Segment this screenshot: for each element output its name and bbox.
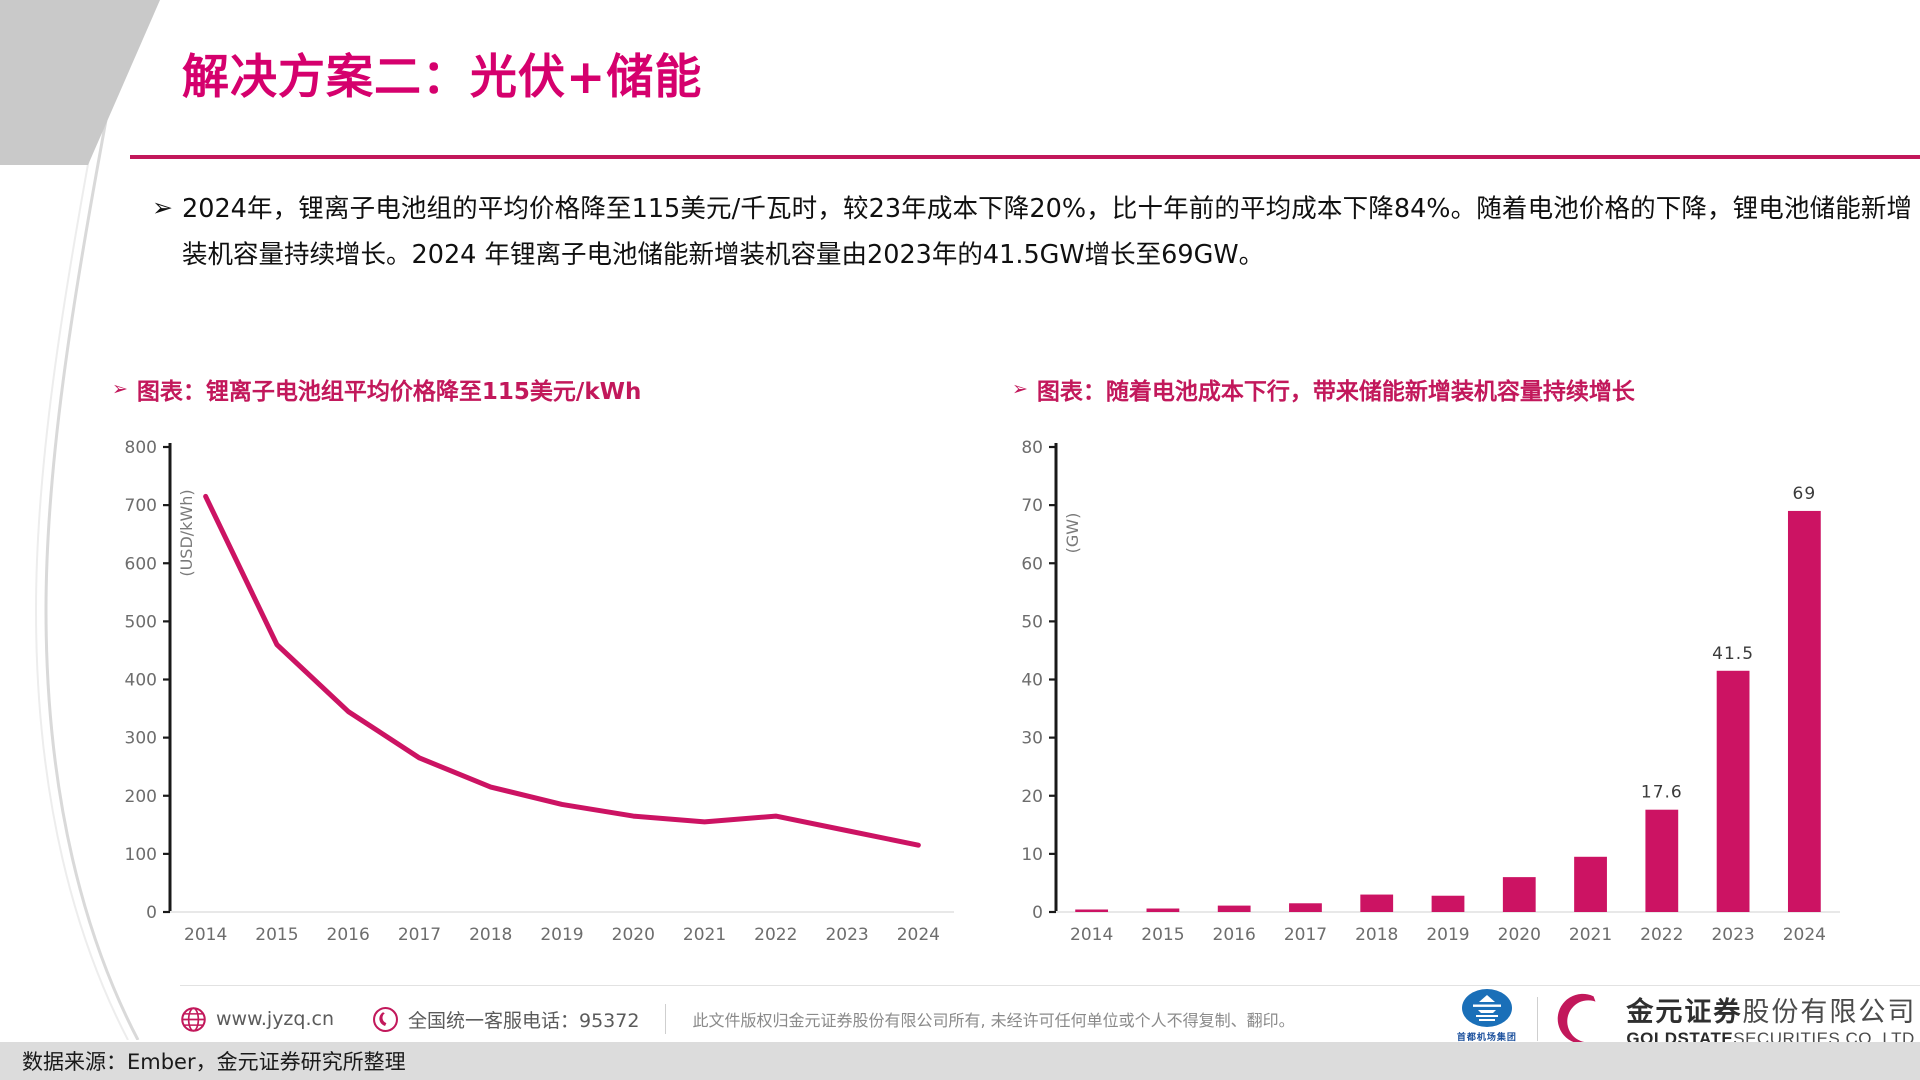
bar-chart: 01020304050607080(GW)2014201520162017201… <box>978 425 1858 970</box>
right-chart-heading: ➢ 图表：随着电池成本下行，带来储能新增装机容量持续增长 <box>1012 372 1635 406</box>
bullet-arrow-icon: ➢ <box>152 186 182 230</box>
capital-airports-icon <box>1461 988 1513 1028</box>
bar <box>1289 903 1322 912</box>
bar <box>1645 810 1678 912</box>
x-tick-label: 2022 <box>754 925 797 945</box>
x-tick-label: 2020 <box>612 925 655 945</box>
bar <box>1574 857 1607 912</box>
line-chart-panel: 0100200300400500600700800(USD/kWh)201420… <box>92 425 972 970</box>
x-tick-label: 2021 <box>1569 925 1612 945</box>
y-tick-label: 100 <box>125 845 157 865</box>
y-tick-label: 0 <box>1032 903 1043 923</box>
line-chart: 0100200300400500600700800(USD/kWh)201420… <box>92 425 972 970</box>
footer-hotline-text: 全国统一客服电话：95372 <box>408 1006 639 1033</box>
x-tick-label: 2016 <box>1213 925 1256 945</box>
x-tick-label: 2024 <box>1783 925 1826 945</box>
footer-copyright: 此文件版权归金元证券股份有限公司所有, 未经许可任何单位或个人不得复制、翻印。 <box>692 1007 1294 1031</box>
brand-name-cn-rest: 股份有限公司 <box>1742 997 1916 1028</box>
page-title: 解决方案二：光伏+储能 <box>182 38 702 107</box>
x-tick-label: 2019 <box>1426 925 1469 945</box>
x-tick-label: 2016 <box>327 925 370 945</box>
footer-divider <box>180 985 1920 986</box>
y-tick-label: 40 <box>1021 671 1043 691</box>
x-tick-label: 2014 <box>1070 925 1113 945</box>
x-tick-label: 2023 <box>1711 925 1754 945</box>
x-tick-label: 2019 <box>540 925 583 945</box>
globe-icon <box>180 1006 207 1033</box>
y-tick-label: 0 <box>146 903 157 923</box>
y-tick-label: 30 <box>1021 729 1043 749</box>
x-tick-label: 2021 <box>683 925 726 945</box>
y-tick-label: 80 <box>1021 438 1043 458</box>
footer-website[interactable]: www.jyzq.cn <box>180 1006 334 1033</box>
source-bar: 数据来源：Ember，金元证券研究所整理 <box>0 1042 1920 1080</box>
bar-value-label: 69 <box>1793 484 1817 504</box>
y-tick-label: 10 <box>1021 845 1043 865</box>
bar-value-label: 41.5 <box>1712 644 1754 664</box>
x-tick-label: 2015 <box>255 925 298 945</box>
bar <box>1503 877 1536 912</box>
x-tick-label: 2017 <box>398 925 441 945</box>
bar <box>1218 906 1251 912</box>
x-tick-label: 2015 <box>1141 925 1184 945</box>
y-tick-label: 400 <box>125 671 157 691</box>
bar-value-label: 17.6 <box>1641 783 1683 803</box>
footer: www.jyzq.cn 全国统一客服电话：95372 此文件版权归金元证券股份有… <box>180 995 1920 1043</box>
y-tick-label: 50 <box>1021 612 1043 632</box>
phone-icon <box>372 1006 399 1033</box>
y-axis-unit-label: (USD/kWh) <box>177 489 196 576</box>
y-tick-label: 500 <box>125 612 157 632</box>
bullet-item: ➢ 2024年，锂离子电池组的平均价格降至115美元/千瓦时，较23年成本下降2… <box>152 186 1912 278</box>
y-tick-label: 700 <box>125 496 157 516</box>
partner-logo-cn: 首都机场集团 <box>1457 1030 1517 1043</box>
x-tick-label: 2022 <box>1640 925 1683 945</box>
y-tick-label: 600 <box>125 554 157 574</box>
bar <box>1147 909 1180 912</box>
x-tick-label: 2017 <box>1284 925 1327 945</box>
brand-name-cn: 金元证券股份有限公司 <box>1626 990 1920 1029</box>
goldstate-mark-icon <box>1552 990 1614 1048</box>
slide-canvas: 解决方案二：光伏+储能 ➢ 2024年，锂离子电池组的平均价格降至115美元/千… <box>0 0 1920 1080</box>
y-tick-label: 200 <box>125 787 157 807</box>
x-tick-label: 2018 <box>1355 925 1398 945</box>
title-divider <box>130 155 1920 159</box>
right-chart-heading-text: 图表：随着电池成本下行，带来储能新增装机容量持续增长 <box>1037 372 1635 406</box>
bar <box>1075 910 1108 913</box>
bar-chart-panel: 01020304050607080(GW)2014201520162017201… <box>978 425 1858 970</box>
y-tick-label: 800 <box>125 438 157 458</box>
bullet-paragraph: 2024年，锂离子电池组的平均价格降至115美元/千瓦时，较23年成本下降20%… <box>182 186 1912 278</box>
brand-name-cn-bold: 金元证券 <box>1626 997 1742 1028</box>
brand-block: 金元证券股份有限公司 GOLDSTATESECURITIES CO.,LTD. <box>1626 990 1920 1049</box>
bar <box>1432 896 1465 912</box>
x-tick-label: 2018 <box>469 925 512 945</box>
logo-separator <box>1537 997 1538 1041</box>
source-text: 数据来源：Ember，金元证券研究所整理 <box>22 1046 406 1076</box>
y-tick-label: 20 <box>1021 787 1043 807</box>
line-series <box>206 496 919 845</box>
left-chart-heading-arrow-icon: ➢ <box>112 378 128 400</box>
bar <box>1717 671 1750 912</box>
x-tick-label: 2024 <box>897 925 940 945</box>
body-content: ➢ 2024年，锂离子电池组的平均价格降至115美元/千瓦时，较23年成本下降2… <box>152 186 1912 278</box>
y-axis-unit-label: (GW) <box>1063 513 1082 554</box>
bar <box>1788 511 1821 912</box>
footer-separator <box>665 1004 666 1034</box>
x-tick-label: 2014 <box>184 925 227 945</box>
y-tick-label: 70 <box>1021 496 1043 516</box>
x-tick-label: 2020 <box>1498 925 1541 945</box>
footer-website-text: www.jyzq.cn <box>216 1008 334 1030</box>
footer-hotline[interactable]: 全国统一客服电话：95372 <box>372 1006 639 1033</box>
bar <box>1360 895 1393 912</box>
x-tick-label: 2023 <box>825 925 868 945</box>
right-chart-heading-arrow-icon: ➢ <box>1012 378 1028 400</box>
left-chart-heading-text: 图表：锂离子电池组平均价格降至115美元/kWh <box>137 372 641 406</box>
left-chart-heading: ➢ 图表：锂离子电池组平均价格降至115美元/kWh <box>112 372 641 406</box>
y-tick-label: 60 <box>1021 554 1043 574</box>
y-tick-label: 300 <box>125 729 157 749</box>
